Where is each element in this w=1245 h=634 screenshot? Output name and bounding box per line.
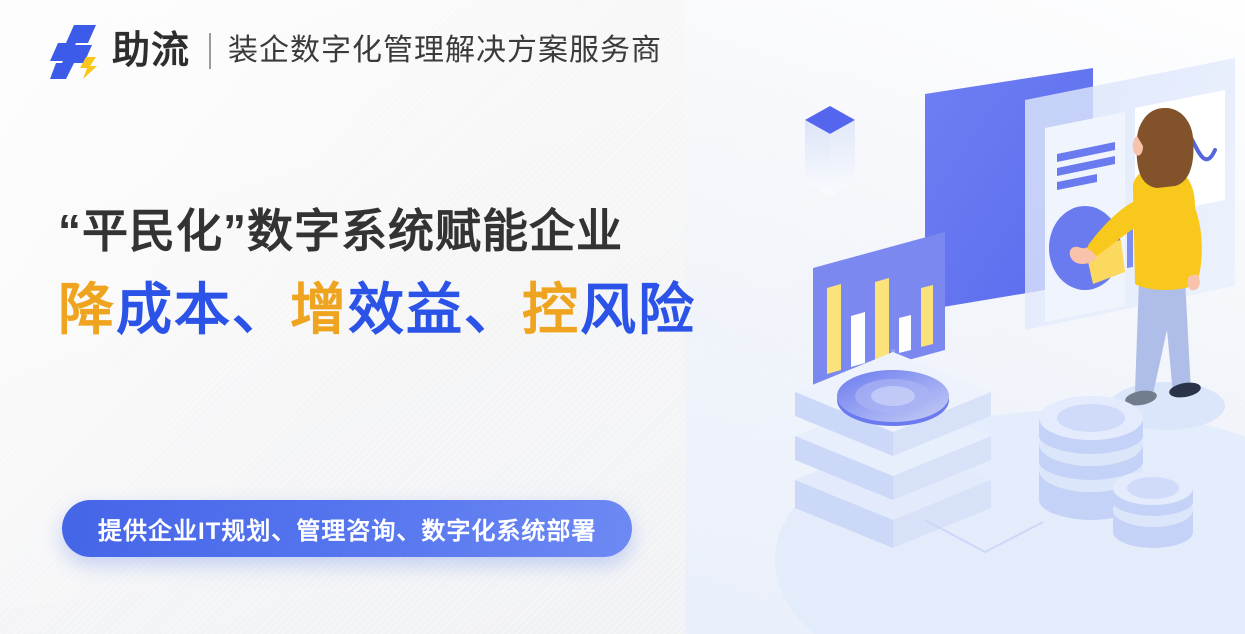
- bar: [851, 312, 865, 367]
- brand-header: 助流 装企数字化管理解决方案服务商: [50, 20, 662, 82]
- headline-segment: 风险: [580, 278, 696, 341]
- coin-stack-short: [1113, 471, 1193, 548]
- headline-line-1: “平民化”数字系统赋能企业: [58, 203, 778, 259]
- cta-pill-button[interactable]: 提供企业IT规划、管理咨询、数字化系统部署: [62, 500, 632, 557]
- isometric-cube: [805, 106, 855, 196]
- headline-line-2: 降成本、增效益、控风险: [58, 277, 778, 343]
- headline-segment: 成本、: [116, 278, 290, 341]
- zhuliu-lightning-logo-icon: [50, 23, 102, 79]
- headline-segment: 效益、: [348, 278, 522, 341]
- brand-tagline: 装企数字化管理解决方案服务商: [228, 36, 662, 66]
- bar: [875, 278, 889, 360]
- headline-segment: 增: [290, 278, 348, 341]
- headline-segment: 控: [522, 278, 580, 341]
- data-dashboard-isometric-illustration: [775, 0, 1245, 634]
- promotional-banner: 助流 装企数字化管理解决方案服务商 “平民化”数字系统赋能企业 降成本、增效益、…: [0, 0, 1245, 634]
- headline-segment: 降: [58, 278, 116, 341]
- brand-divider: [209, 33, 211, 69]
- headline-block: “平民化”数字系统赋能企业 降成本、增效益、控风险: [58, 203, 778, 343]
- hand: [1187, 274, 1199, 290]
- bar: [827, 284, 841, 374]
- hair-back: [1137, 108, 1194, 188]
- bar: [921, 285, 933, 347]
- bar: [899, 315, 911, 353]
- server-stack: [795, 352, 991, 548]
- pants: [1135, 278, 1191, 394]
- brand-name: 助流: [112, 32, 190, 70]
- disc: [837, 370, 949, 426]
